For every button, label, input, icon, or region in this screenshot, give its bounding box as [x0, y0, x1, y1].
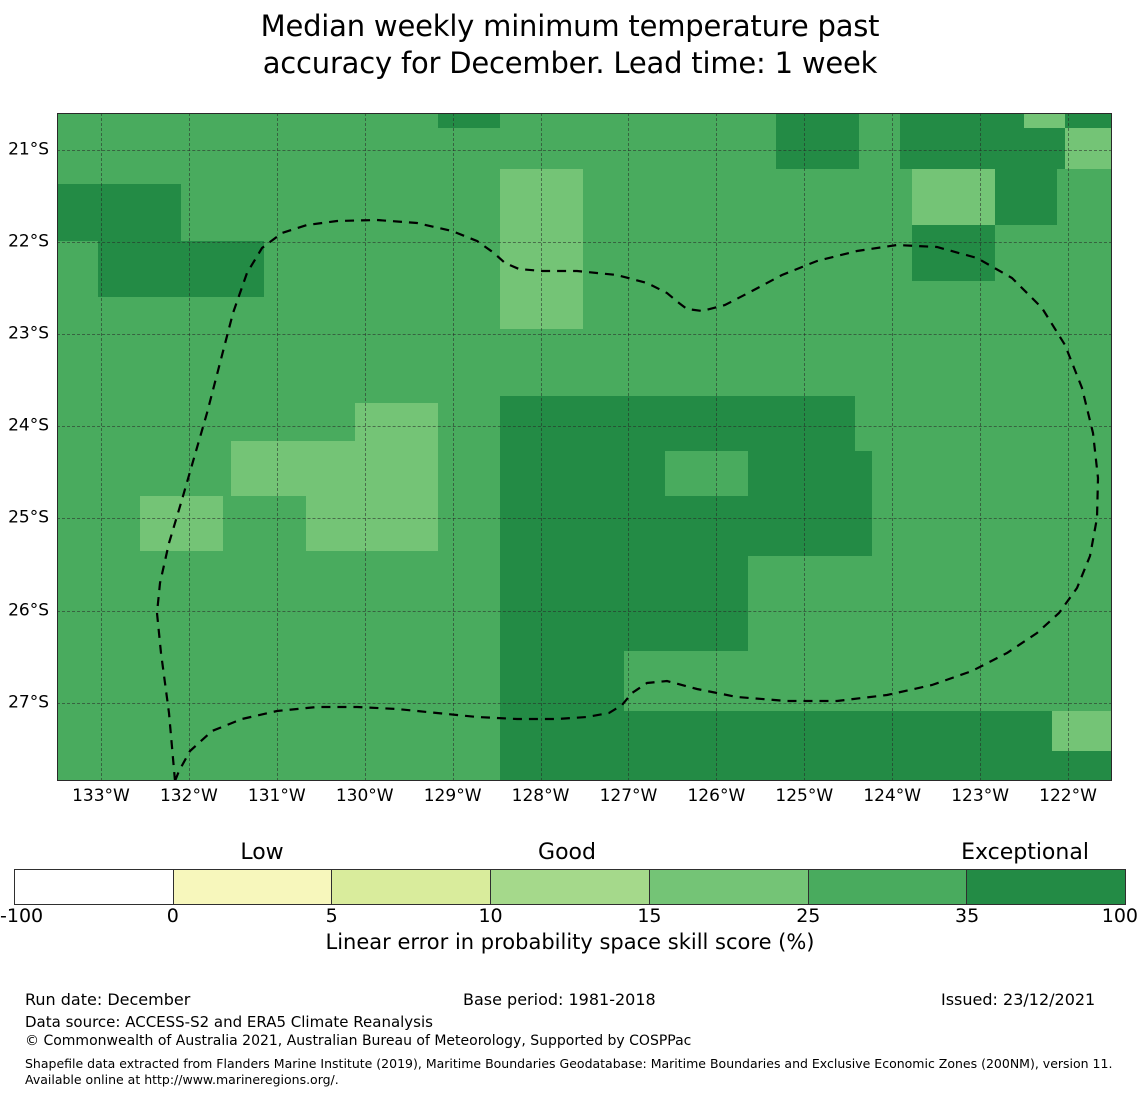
heatmap-cell — [1065, 128, 1112, 169]
heatmap-cell — [1065, 113, 1112, 128]
heatmap-cell — [872, 556, 1112, 616]
heatmap-cell — [140, 496, 223, 551]
heatmap-cell — [776, 113, 859, 169]
x-axis-tick-label: 125°W — [775, 788, 833, 805]
x-axis-tick-label: 122°W — [1039, 788, 1097, 805]
x-axis-tick-label: 130°W — [336, 788, 394, 805]
map-plot-area — [57, 113, 1112, 781]
y-axis-tick-label: 27°S — [8, 694, 49, 711]
colorbar-segment — [650, 870, 809, 904]
heatmap-cell — [1024, 113, 1065, 128]
x-axis-tick-label: 127°W — [600, 788, 658, 805]
colorbar-segment — [332, 870, 491, 904]
colorbar-category-label: Good — [538, 841, 596, 865]
heatmap-cell — [912, 169, 995, 225]
heatmap-cell — [57, 184, 181, 241]
issued-date-text: Issued: 23/12/2021 — [941, 990, 1095, 1010]
copyright-text: © Commonwealth of Australia 2021, Austra… — [25, 1032, 691, 1050]
x-axis-tick-label: 123°W — [951, 788, 1009, 805]
heatmap-cell — [231, 441, 355, 496]
heatmap-cell — [995, 169, 1057, 225]
heatmap-cell — [500, 396, 855, 451]
base-period-text: Base period: 1981-2018 — [463, 990, 656, 1010]
y-axis-tick-label: 21°S — [8, 141, 49, 158]
heatmap-cell — [181, 241, 264, 297]
skill-score-heatmap — [57, 113, 1112, 781]
heatmap-cell — [748, 451, 872, 556]
heatmap-cell — [1024, 128, 1065, 169]
heatmap-cell — [438, 113, 500, 128]
shapefile-attribution-text: Shapefile data extracted from Flanders M… — [25, 1056, 1123, 1088]
chart-title: Median weekly minimum temperature past a… — [0, 8, 1140, 82]
x-axis-tick-label: 131°W — [248, 788, 306, 805]
colorbar-tick-labels: -1000510152535100 — [0, 906, 1140, 928]
x-axis-tick-label: 128°W — [512, 788, 570, 805]
colorbar-segment — [967, 870, 1125, 904]
heatmap-cell — [98, 241, 181, 297]
colorbar-category-label: Exceptional — [961, 841, 1089, 865]
heatmap-cell — [306, 496, 438, 551]
heatmap-cell — [500, 169, 583, 329]
colorbar-tick-label: 0 — [167, 906, 179, 926]
heatmap-cell — [57, 113, 98, 149]
colorbar-tick-label: 100 — [1102, 906, 1138, 926]
x-axis-tick-label: 129°W — [424, 788, 482, 805]
heatmap-cell — [500, 651, 624, 781]
data-source-text: Data source: ACCESS-S2 and ERA5 Climate … — [25, 1013, 433, 1032]
heatmap-cell — [912, 225, 995, 281]
x-axis-tick-label: 132°W — [160, 788, 218, 805]
chart-title-line-1: Median weekly minimum temperature past — [0, 8, 1140, 45]
colorbar-category-label: Low — [240, 841, 283, 865]
y-axis-tick-label: 26°S — [8, 602, 49, 619]
chart-title-line-2: accuracy for December. Lead time: 1 week — [0, 45, 1140, 82]
run-date-text: Run date: December — [25, 990, 190, 1010]
y-axis-tick-label: 24°S — [8, 418, 49, 435]
heatmap-cell — [355, 403, 438, 496]
heatmap-cell — [900, 128, 1024, 169]
colorbar-tick-label: 15 — [637, 906, 661, 926]
x-axis-tick-label: 124°W — [863, 788, 921, 805]
heatmap-cell — [624, 711, 1112, 781]
colorbar-segment — [809, 870, 968, 904]
heatmap-cell — [57, 241, 98, 297]
y-axis-tick-label: 23°S — [8, 326, 49, 343]
colorbar-tick-label: 10 — [478, 906, 502, 926]
heatmap-cell — [900, 113, 1024, 128]
colorbar-segment — [15, 870, 174, 904]
heatmap-cell — [665, 451, 748, 496]
colorbar-tick-label: 25 — [796, 906, 820, 926]
heatmap-cell — [1052, 711, 1112, 751]
x-axis-tick-label: 133°W — [72, 788, 130, 805]
colorbar-segment — [174, 870, 333, 904]
y-axis-tick-label: 22°S — [8, 233, 49, 250]
y-axis-tick-label: 25°S — [8, 510, 49, 527]
colorbar-segment — [491, 870, 650, 904]
colorbar-tick-label: 5 — [326, 906, 338, 926]
colorbar-tick-label: 35 — [955, 906, 979, 926]
footer-meta-row: Run date: December Base period: 1981-201… — [0, 990, 1140, 1012]
x-axis-tick-label: 126°W — [687, 788, 745, 805]
colorbar-category-labels: LowGoodExceptional — [0, 841, 1140, 867]
colorbar-axis-label: Linear error in probability space skill … — [0, 930, 1140, 954]
colorbar-tick-label: -100 — [0, 906, 43, 926]
heatmap-cell — [859, 113, 900, 128]
colorbar — [14, 869, 1126, 905]
